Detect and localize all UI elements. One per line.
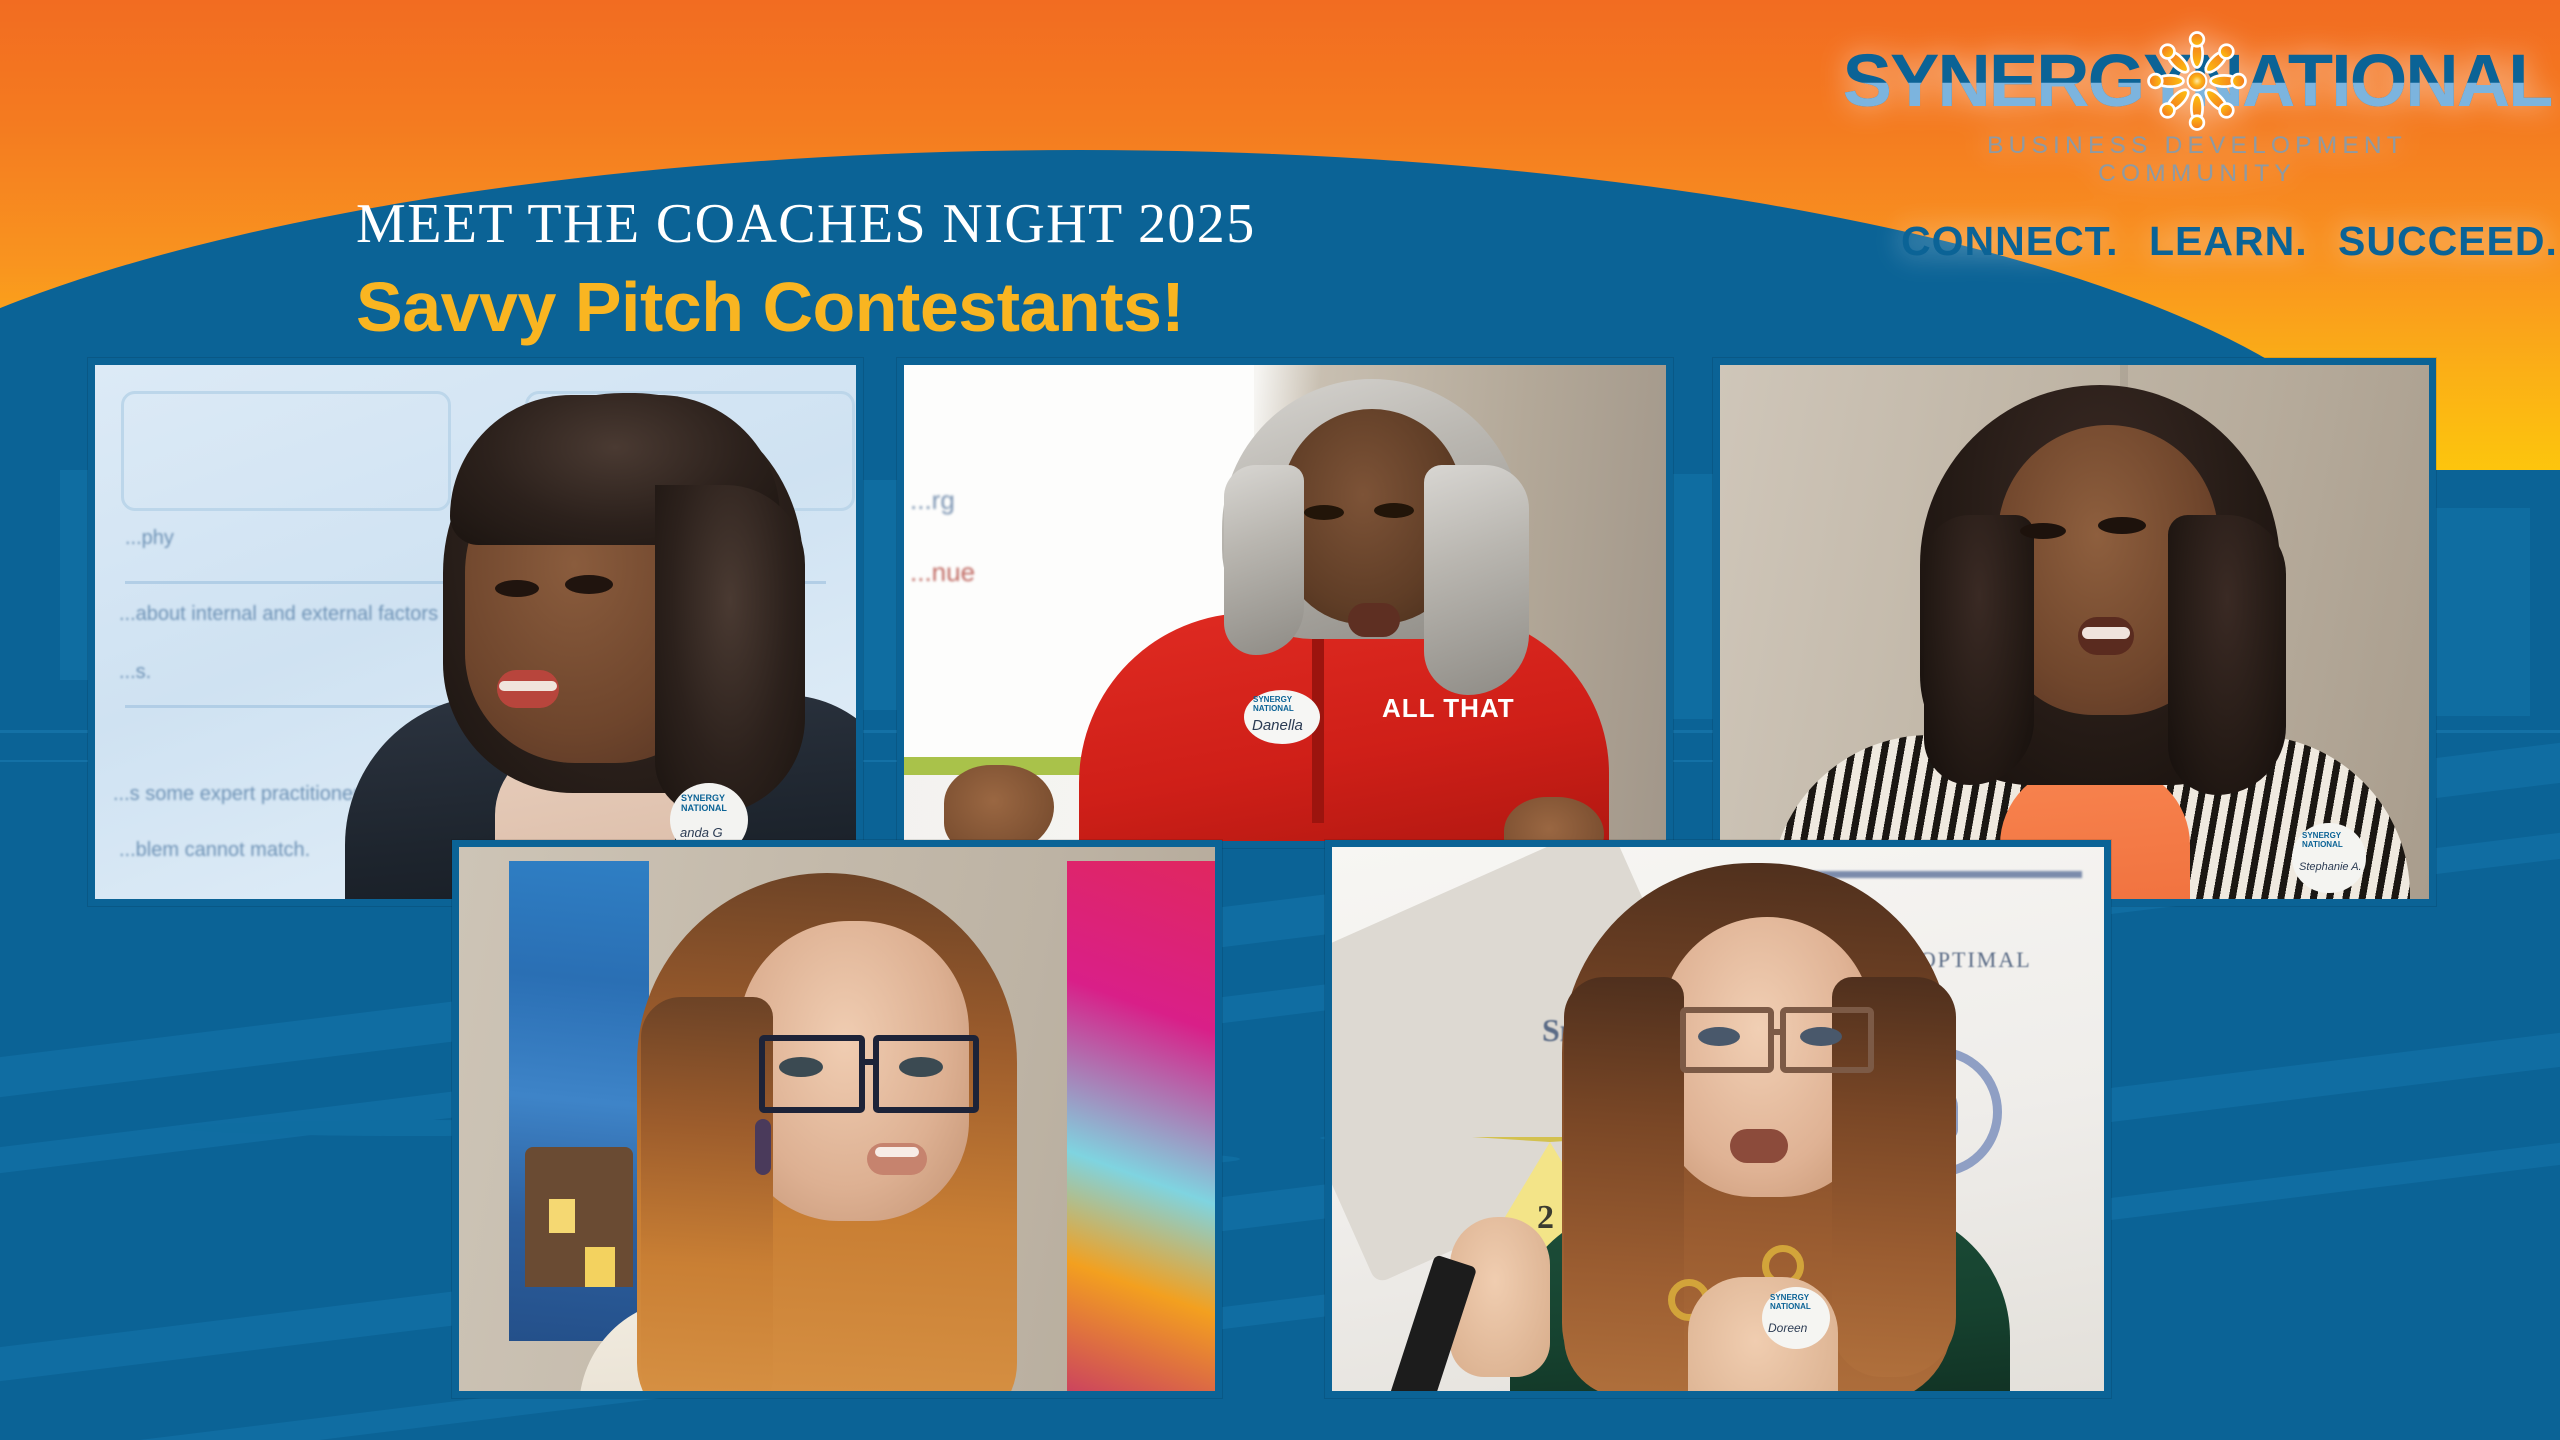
logo-tagline: CONNECT. LEARN. SUCCEED. [1892,218,2502,265]
photo2-slide-line-1: ...rg [910,485,955,516]
photo2-apparel-logo: ALL THAT [1382,693,1515,724]
photo-contestant-3: SYNERGY NATIONAL Stephanie A. [1713,358,2436,906]
photo-contestant-4 [452,840,1222,1398]
slide-text-line-4: ...s some expert practitioner t... [113,783,388,806]
poster-canvas: SYNERGY SYNERGY NATIONAL NATIONAL [0,0,2560,1440]
tagline-learn: LEARN. [2149,218,2308,264]
title-block: MEET THE COACHES NIGHT 2025 Savvy Pitch … [356,196,1256,342]
tagline-succeed: SUCCEED. [2338,218,2558,264]
event-kicker: MEET THE COACHES NIGHT 2025 [356,196,1256,252]
photo2-badge-logo: SYNERGY NATIONAL [1253,695,1320,713]
photo3-badge-name: Stephanie A. [2299,861,2362,873]
synergy-national-logo: SYNERGY SYNERGY NATIONAL NATIONAL [1892,34,2502,265]
photo-contestant-1: ...phy ...about internal and external fa… [88,358,863,906]
photo2-name-badge: SYNERGY NATIONAL Danella [1244,690,1320,744]
slide-text-line-1: ...phy [125,527,174,550]
slide-text-line-5: ...blem cannot match. [119,839,310,862]
photo2-slide-line-2: ...nue [910,557,975,588]
photo-contestant-5: 2 Small ...NEUR OPTIMAL S [1325,840,2111,1398]
logo-wordmark: SYNERGY SYNERGY NATIONAL NATIONAL [1892,34,2502,128]
photo-contestant-2: ...rg ...nue SYNERGY NATIONAL Danella AL… [897,358,1673,848]
photo1-badge-name: anda G [680,825,723,840]
tagline-connect: CONNECT. [1901,218,2119,264]
event-headline: Savvy Pitch Contestants! [356,272,1256,342]
photo5-badge-logo: SYNERGY NATIONAL [1770,1293,1830,1311]
photo3-badge-logo: SYNERGY NATIONAL [2302,831,2366,849]
sunburst-icon [2145,29,2249,133]
photo1-badge-logo: SYNERGY NATIONAL [681,793,748,813]
logo-word-left: SYNERGY SYNERGY [1843,38,2191,124]
logo-subtitle: BUSINESS DEVELOPMENT COMMUNITY [1892,132,2502,188]
photo3-name-badge: SYNERGY NATIONAL Stephanie A. [2292,823,2366,893]
photo2-badge-name: Danella [1252,717,1303,734]
slide-text-line-2: ...about internal and external factors .… [119,603,460,626]
slide-text-line-3: ...s. [119,661,151,684]
photo5-badge-name: Doreen [1768,1321,1807,1335]
photo5-name-badge: SYNERGY NATIONAL Doreen [1762,1287,1830,1349]
